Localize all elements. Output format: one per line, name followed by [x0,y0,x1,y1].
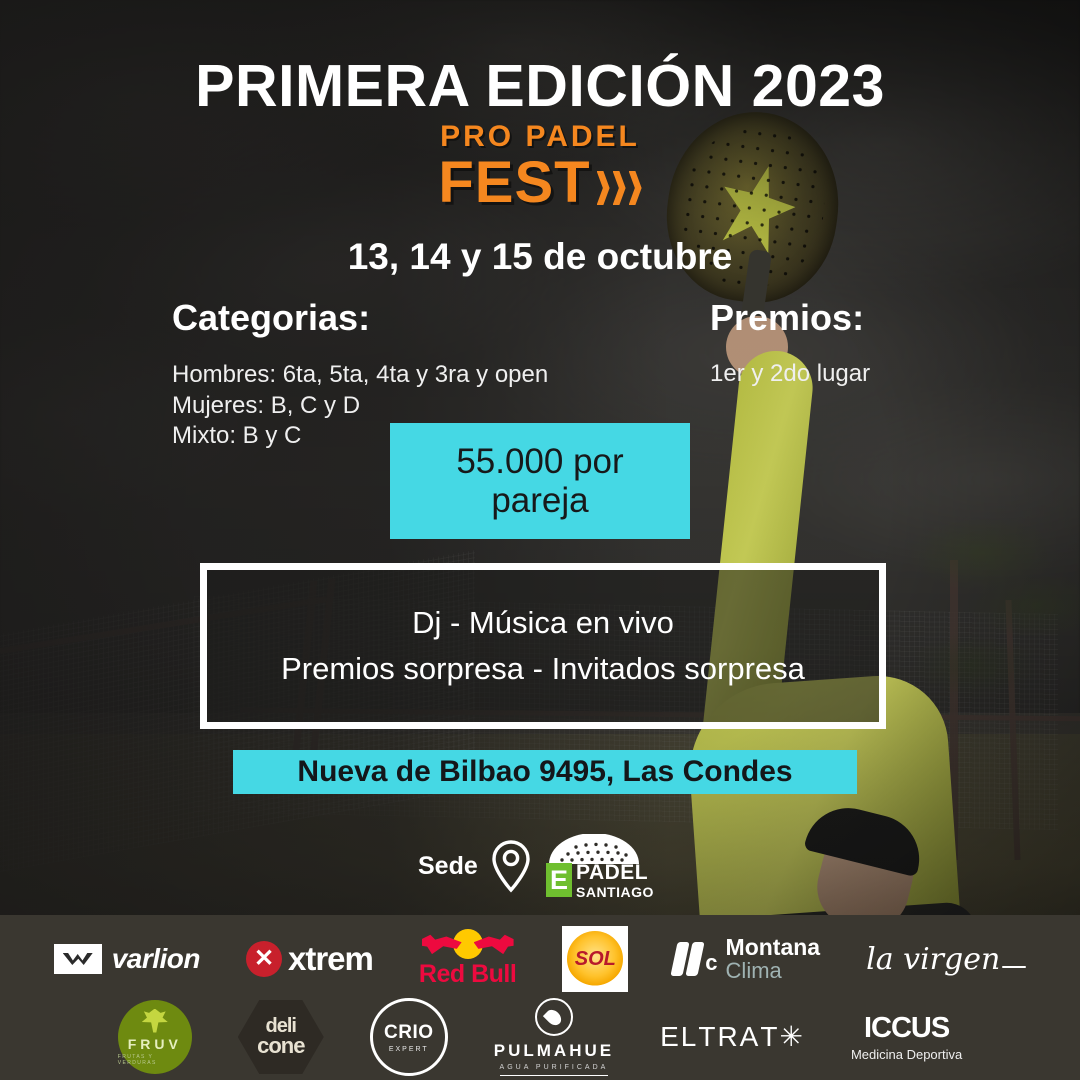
sponsor-sublabel: Clima [726,960,821,982]
page-title: PRIMERA EDICIÓN 2023 [0,52,1080,120]
epadel-wordmark: E PADEL SANTIAGO [546,862,654,899]
montana-m-icon: c [674,942,717,976]
poster-canvas: PRIMERA EDICIÓN 2023 PRO PADEL FEST 13, … [0,0,1080,1080]
sponsor-crio-expert-logo: CRIO EXPERT [370,998,448,1076]
sponsor-sublabel: EXPERT [389,1046,429,1053]
category-line: Hombres: 6ta, 5ta, 4ta y 3ra y open [172,360,548,391]
extras-box: Dj - Música en vivo Premios sorpresa - I… [200,563,886,729]
sponsor-la-virgen-logo: la virgen [866,942,1026,977]
sponsor-label: PULMAHUE [494,1041,614,1061]
sponsor-label: CRIO [384,1022,434,1044]
prizes-heading: Premios: [710,297,864,339]
sponsors-row-2: FRUV FRUTAS Y VERDURAS deli cone CRIO EX… [0,997,1080,1077]
category-line: Mujeres: B, C y D [172,391,548,422]
sponsor-label: ICCUS [864,1012,949,1045]
sponsors-row-1: varlion ✕ xtrem Red Bull SOL c [0,921,1080,997]
sponsor-varlion-logo: varlion [54,943,200,975]
sponsor-montana-clima-logo: c Montana Clima [674,936,820,982]
sponsor-red-bull-logo: Red Bull [419,929,516,989]
water-drop-icon [535,998,573,1036]
venue-block: Sede [418,828,678,904]
address-badge: Nueva de Bilbao 9495, Las Condes [233,750,857,794]
red-bull-bulls-icon [420,929,516,959]
sponsor-label: EL [660,1024,698,1050]
epadel-santiago-logo: E PADEL SANTIAGO [546,834,654,899]
sponsor-label: varlion [112,943,200,975]
location-pin-icon [490,839,532,893]
sponsor-label: T✳ [760,1024,805,1050]
sol-sun-icon: SOL [567,931,623,987]
fruv-tree-icon [142,1009,168,1033]
sponsors-strip: varlion ✕ xtrem Red Bull SOL c [0,915,1080,1080]
epadel-city: SANTIAGO [576,885,654,899]
logo-fest-text: FEST [438,154,590,212]
sponsor-fruv-logo: FRUV FRUTAS Y VERDURAS [118,1000,192,1074]
event-dates: 13, 14 y 15 de octubre [0,236,1080,278]
sponsor-xtrem-logo: ✕ xtrem [246,940,373,978]
sponsor-el-trat-logo: EL TRA T✳ [660,1024,805,1050]
sponsor-label: FRUV [128,1036,182,1052]
categories-heading: Categorias: [172,297,370,339]
sponsor-sublabel: Medicina Deportiva [851,1047,962,1062]
event-logo: PRO PADEL FEST [0,122,1080,212]
sponsor-label: la virgen [866,942,1000,977]
price-line-2: pareja [491,481,588,520]
sponsor-label: Red Bull [419,960,516,989]
extras-line-2: Premios sorpresa - Invitados sorpresa [281,646,805,693]
sponsor-deli-cone-logo: deli cone [238,1000,324,1074]
sponsor-sublabel: cone [257,1036,304,1057]
prizes-text: 1er y 2do lugar [710,360,870,388]
extras-line-1: Dj - Música en vivo [412,600,674,647]
epadel-letter: E [546,863,572,897]
price-badge: 55.000 por pareja [390,423,690,539]
sponsor-label: SOL [575,948,616,971]
sponsor-sol-logo: SOL [562,926,628,992]
venue-label: Sede [418,853,476,879]
varlion-mark-icon [54,944,102,974]
chevrons-right-icon [597,171,642,205]
sponsor-iccus-logo: ICCUS Medicina Deportiva [851,1012,962,1062]
sponsor-sublabel: FRUTAS Y VERDURAS [118,1054,192,1066]
sponsor-label: Montana [726,936,821,959]
price-line-1: 55.000 por [456,442,623,481]
xtrem-x-icon: ✕ [246,941,282,977]
la-virgen-flourish-icon [1002,966,1026,968]
epadel-name: PADEL [576,862,654,883]
epadel-dome-icon [546,834,642,864]
sponsor-label: TRA [698,1024,760,1050]
logo-bottom-row: FEST [0,154,1080,212]
logo-top-text: PRO PADEL [0,122,1080,152]
sponsor-label: xtrem [288,940,373,978]
sponsor-sublabel: AGUA PURIFICADA [500,1064,609,1076]
sponsor-pulmahue-logo: PULMAHUE AGUA PURIFICADA [494,998,614,1076]
